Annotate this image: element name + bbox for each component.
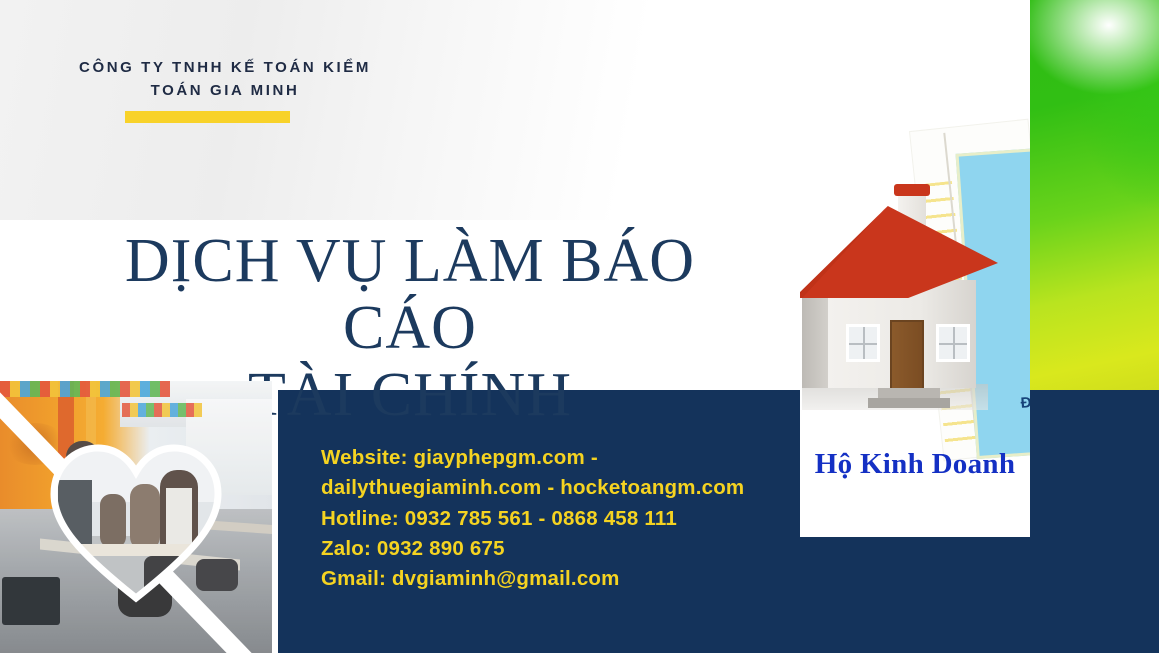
house-illustration (802, 162, 992, 412)
contact-website-line-2: dailythuegiaminh.com - hocketoangm.com (321, 473, 791, 503)
contact-hotline: Hotline: 0932 785 561 - 0868 458 111 (321, 504, 791, 534)
house-window-right (936, 324, 970, 362)
contact-gmail: Gmail: dvgiaminh@gmail.com (321, 564, 791, 594)
window-bar-horizontal (849, 343, 877, 345)
house-door (890, 320, 924, 394)
document-title-large: ĐĂNG KÝ HỘ (1000, 387, 1030, 414)
brand-accent-bar (125, 111, 290, 123)
house-side-wall (802, 294, 830, 388)
contact-zalo: Zalo: 0932 890 675 (321, 534, 791, 564)
house-step-lower (868, 398, 950, 408)
office-photo (0, 381, 272, 653)
slide-canvas: CÔNG TY TNHH KẾ TOÁN KIỂM TOÁN GIA MINH … (0, 0, 1159, 653)
business-registration-photo: GIẤY CHỨNG ĐĂNG KÝ HỘ Hộ Kinh Doanh (800, 62, 1030, 537)
brand-line-1: CÔNG TY TNHH KẾ TOÁN KIỂM (40, 56, 410, 79)
photo-caption: Hộ Kinh Doanh (800, 448, 1030, 481)
contact-details: Website: giayphepgm.com - dailythuegiami… (321, 443, 791, 595)
house-window-left (846, 324, 880, 362)
house-chimney-cap (894, 184, 930, 196)
window-bar-horizontal (939, 343, 967, 345)
brand-line-2: TOÁN GIA MINH (40, 79, 410, 102)
page-title-line-1: DỊCH VỤ LÀM BÁO CÁO (60, 228, 760, 362)
background-top-left (0, 0, 800, 222)
contact-website-line-1: Website: giayphepgm.com - (321, 443, 791, 473)
brand-header: CÔNG TY TNHH KẾ TOÁN KIỂM TOÁN GIA MINH (40, 56, 410, 103)
document-title-small: GIẤY CHỨNG (1020, 372, 1030, 389)
background-white-notch (800, 0, 1030, 62)
office-photo-overlay (0, 381, 272, 653)
